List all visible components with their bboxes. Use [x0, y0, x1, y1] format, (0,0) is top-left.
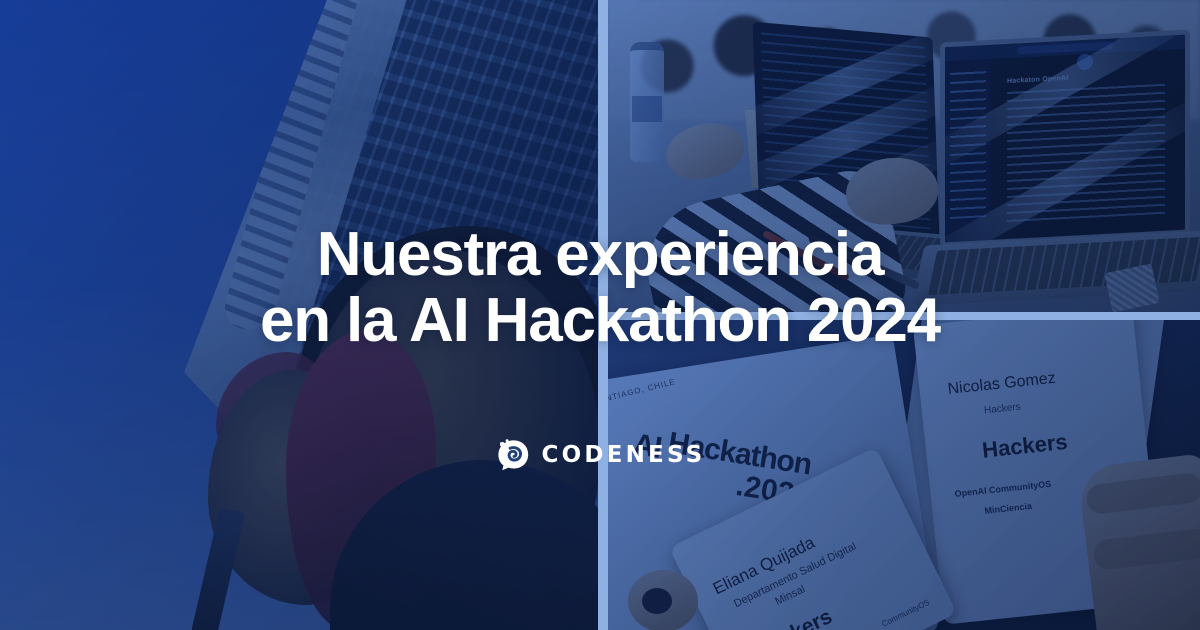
brand-name: CODENESS [542, 442, 706, 468]
lanyard-badges-photo: Hackathon 2024 Nicolas Gomez Hackers Hac… [608, 320, 1200, 630]
page-title: Nuestra experiencia en la AI Hackathon 2… [0, 222, 1200, 355]
headline-line-2: en la AI Hackathon 2024 [26, 288, 1174, 354]
headline-line-1: Nuestra experiencia [317, 220, 884, 289]
og-hero-card: Hackaton OpenAI [0, 0, 1200, 630]
codeness-logo-icon [495, 437, 531, 473]
brand-logo: CODENESS [0, 437, 1200, 473]
blue-tint-overlay-br-2 [608, 320, 1200, 630]
